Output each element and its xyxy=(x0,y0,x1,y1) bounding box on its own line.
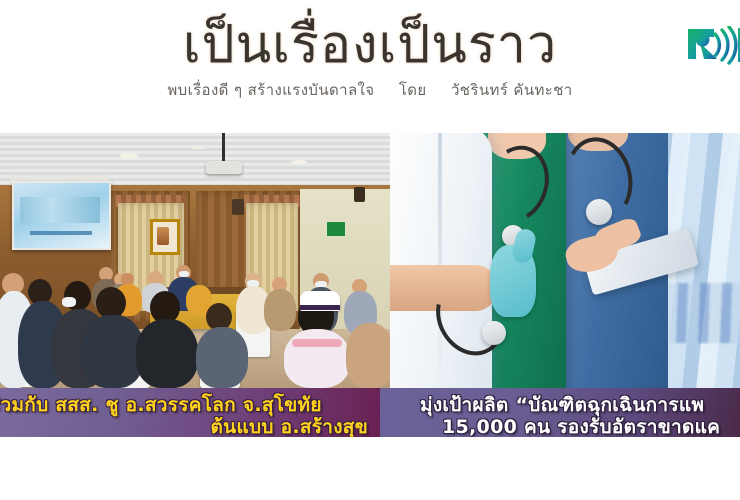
caption-left-line2: ต้นแบบ อ.สร้างสุข xyxy=(211,412,368,437)
subtitle-tagline: พบเรื่องดี ๆ สร้างแรงบันดาลใจ xyxy=(167,81,374,99)
photo-strip xyxy=(0,133,740,388)
exit-sign xyxy=(326,221,346,237)
brand-block: เป็นเรื่องเป็นราว พบเรื่องดี ๆ สร้างแรงบ… xyxy=(0,14,740,100)
nurse-cap-stripe xyxy=(300,305,340,310)
header: เป็นเรื่องเป็นราว พบเรื่องดี ๆ สร้างแรงบ… xyxy=(0,0,740,133)
photo-left-seminar-room xyxy=(0,133,390,388)
face-mask xyxy=(62,297,76,307)
attendee-body xyxy=(136,319,198,388)
ceiling-speaker-b xyxy=(354,187,365,202)
ceiling-speaker-a xyxy=(232,199,244,215)
nurse-lanyard xyxy=(292,339,342,347)
caption-bars: ร่วมกับ สสส. ชู อ.สวรรคโลก จ.สุโขทัย ต้น… xyxy=(0,388,740,437)
caption-right: มุ่งเป้าผลิต “บัณฑิตฉุกเฉินการแพ 15,000 … xyxy=(380,388,740,437)
brand-subtitle: พบเรื่องดี ๆ สร้างแรงบันดาลใจ โดย วัชริน… xyxy=(0,80,740,100)
news-banner-page: เป็นเรื่องเป็นราว พบเรื่องดี ๆ สร้างแรงบ… xyxy=(0,0,740,500)
subtitle-author: วัชรินทร์ คันทะชา xyxy=(451,81,573,99)
attendee-body xyxy=(264,289,296,331)
face-mask xyxy=(179,271,189,277)
projector xyxy=(206,161,242,174)
page-title: เป็นเรื่องเป็นราว xyxy=(0,14,740,76)
photo-right-medical-staff xyxy=(390,133,740,388)
radio-broadcast-logo[interactable] xyxy=(684,26,740,66)
projection-screen xyxy=(12,181,111,250)
stethoscope-bell xyxy=(482,321,506,345)
attendee-body xyxy=(196,327,248,388)
subtitle-by-label: โดย xyxy=(399,81,427,99)
nurse-body xyxy=(284,329,350,388)
projector-rod xyxy=(222,133,225,163)
stethoscope-bell xyxy=(586,199,612,225)
attendee-body xyxy=(82,315,144,388)
gloved-thumbs-up-hand xyxy=(490,245,536,317)
footer-whitespace xyxy=(0,437,740,500)
caption-right-line2: 15,000 คน รองรับอัตราขาดแค xyxy=(442,412,720,437)
radio-broadcast-logo-icon xyxy=(684,26,740,66)
framed-portrait xyxy=(150,219,180,255)
caption-left: ร่วมกับ สสส. ชู อ.สวรรคโลก จ.สุโขทัย ต้น… xyxy=(0,388,380,437)
attendee-body xyxy=(346,323,390,388)
